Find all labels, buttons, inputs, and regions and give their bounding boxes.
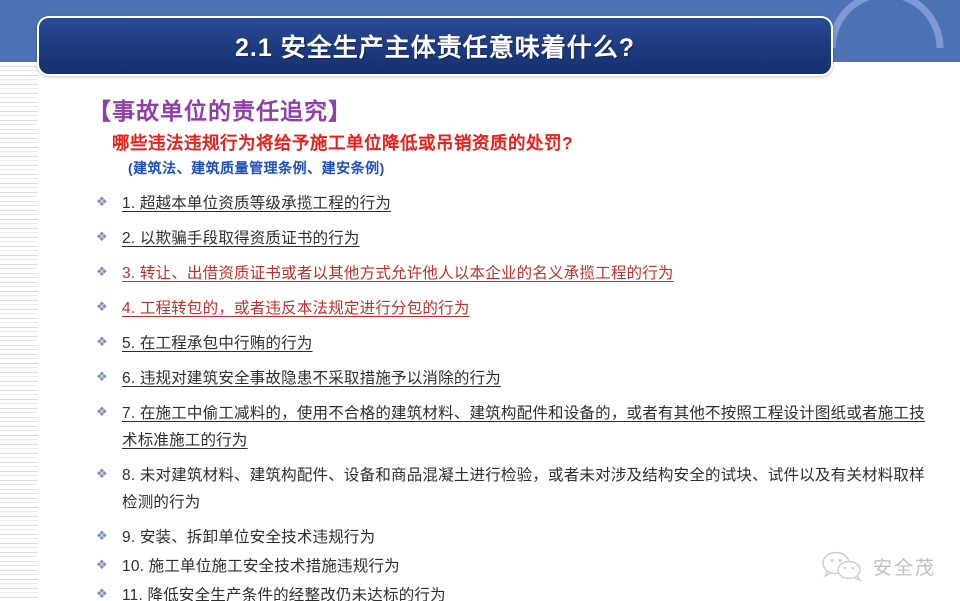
diamond-bullet-icon: ❖ <box>96 365 122 387</box>
list-item: ❖5. 在工程承包中行贿的行为 <box>96 330 926 357</box>
violation-list: ❖1. 超越本单位资质等级承揽工程的行为❖2. 以欺骗手段取得资质证书的行为❖3… <box>96 190 926 601</box>
list-item-text: 8. 未对建筑材料、建筑构配件、设备和商品混凝土进行检验，或者未对涉及结构安全的… <box>122 462 926 516</box>
list-item-text: 3. 转让、出借资质证书或者以其他方式允许他人以本企业的名义承揽工程的行为 <box>122 260 926 287</box>
list-item: ❖10. 施工单位施工安全技术措施违规行为 <box>96 553 926 580</box>
list-item: ❖3. 转让、出借资质证书或者以其他方式允许他人以本企业的名义承揽工程的行为 <box>96 260 926 287</box>
diamond-bullet-icon: ❖ <box>96 524 122 546</box>
list-item-text: 7. 在施工中偷工减料的，使用不合格的建筑材料、建筑构配件和设备的，或者有其他不… <box>122 400 926 454</box>
list-item: ❖2. 以欺骗手段取得资质证书的行为 <box>96 225 926 252</box>
section-subheading: 哪些违法违规行为将给予施工单位降低或吊销资质的处罚? <box>112 130 573 155</box>
diamond-bullet-icon: ❖ <box>96 225 122 247</box>
list-item-text: 10. 施工单位施工安全技术措施违规行为 <box>122 553 926 580</box>
list-item-text: 6. 违规对建筑安全事故隐患不采取措施予以消除的行为 <box>122 365 926 392</box>
diamond-bullet-icon: ❖ <box>96 295 122 317</box>
diamond-bullet-icon: ❖ <box>96 400 122 422</box>
list-item: ❖7. 在施工中偷工减料的，使用不合格的建筑材料、建筑构配件和设备的，或者有其他… <box>96 400 926 454</box>
diamond-bullet-icon: ❖ <box>96 190 122 212</box>
diamond-bullet-icon: ❖ <box>96 260 122 282</box>
list-item: ❖1. 超越本单位资质等级承揽工程的行为 <box>96 190 926 217</box>
watermark: 安全茂 <box>821 551 936 581</box>
diamond-bullet-icon: ❖ <box>96 462 122 484</box>
list-item: ❖4. 工程转包的，或者违反本法规定进行分包的行为 <box>96 295 926 322</box>
list-item-text: 9. 安装、拆卸单位安全技术违规行为 <box>122 524 926 551</box>
list-item-text: 4. 工程转包的，或者违反本法规定进行分包的行为 <box>122 295 926 322</box>
list-item: ❖9. 安装、拆卸单位安全技术违规行为 <box>96 524 926 551</box>
list-item-text: 1. 超越本单位资质等级承揽工程的行为 <box>122 190 926 217</box>
list-item-text: 5. 在工程承包中行贿的行为 <box>122 330 926 357</box>
diamond-bullet-icon: ❖ <box>96 330 122 352</box>
slide-title: 2.1 安全生产主体责任意味着什么? <box>235 28 635 64</box>
section-heading: 【事故单位的责任追究】 <box>88 92 352 126</box>
watermark-label: 安全茂 <box>873 553 936 580</box>
list-item: ❖11. 降低安全生产条件的经整改仍未达标的行为 <box>96 582 926 601</box>
list-item: ❖6. 违规对建筑安全事故隐患不采取措施予以消除的行为 <box>96 365 926 392</box>
list-item-text: 2. 以欺骗手段取得资质证书的行为 <box>122 225 926 252</box>
slide-canvas: 2.1 安全生产主体责任意味着什么? 【事故单位的责任追究】 哪些违法违规行为将… <box>0 0 960 601</box>
slide-content: 【事故单位的责任追究】 哪些违法违规行为将给予施工单位降低或吊销资质的处罚? (… <box>0 78 960 601</box>
decorative-arc-icon <box>826 0 946 48</box>
section-note: (建筑法、建筑质量管理条例、建安条例) <box>128 158 385 178</box>
list-item-text: 11. 降低安全生产条件的经整改仍未达标的行为 <box>122 582 926 601</box>
slide-title-box: 2.1 安全生产主体责任意味着什么? <box>37 16 833 76</box>
diamond-bullet-icon: ❖ <box>96 553 122 575</box>
diamond-bullet-icon: ❖ <box>96 582 122 601</box>
wechat-icon <box>821 551 865 581</box>
list-item: ❖8. 未对建筑材料、建筑构配件、设备和商品混凝土进行检验，或者未对涉及结构安全… <box>96 462 926 516</box>
